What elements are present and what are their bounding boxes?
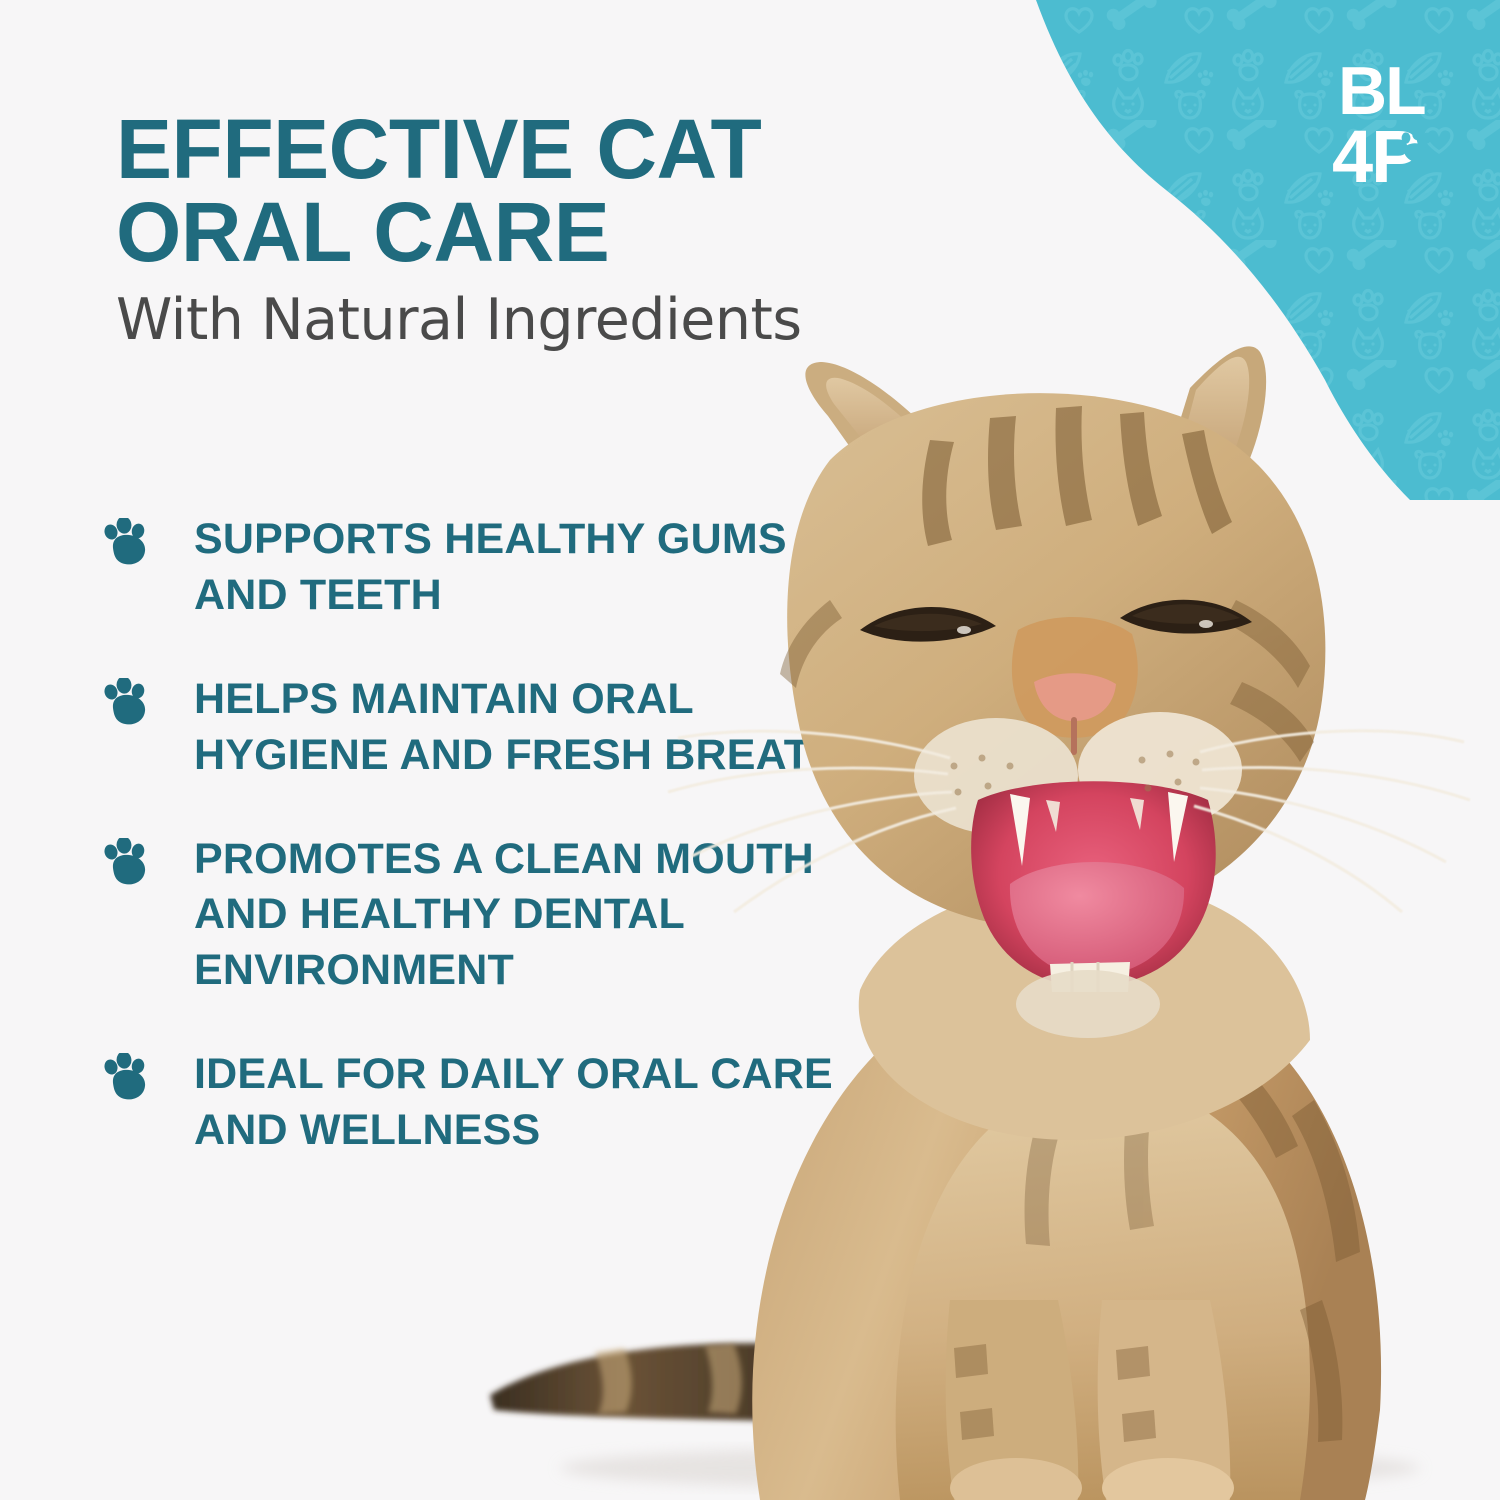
cat-front-legs <box>946 1300 1234 1500</box>
list-item: PROMOTES A CLEAN MOUTH AND HEALTHY DENTA… <box>104 832 844 1000</box>
logo-text-4p: 4P <box>1332 115 1419 198</box>
list-item-label: IDEAL FOR DAILY ORAL CARE AND WELLNESS <box>194 1047 844 1159</box>
cat-shadow <box>560 1446 1420 1490</box>
paw-icon <box>104 1053 152 1105</box>
brand-logo: BL 4P <box>1332 52 1452 202</box>
paw-icon <box>104 678 152 730</box>
list-item: HELPS MAINTAIN ORAL HYGIENE AND FRESH BR… <box>104 672 844 784</box>
list-item-label: SUPPORTS HEALTHY GUMS AND TEETH <box>194 512 844 624</box>
cat-ruff <box>859 880 1310 1140</box>
cat-tail <box>490 1343 1010 1422</box>
benefits-list: SUPPORTS HEALTHY GUMS AND TEETH HELPS MA… <box>104 512 844 1159</box>
list-item-label: PROMOTES A CLEAN MOUTH AND HEALTHY DENTA… <box>194 832 844 1000</box>
list-item: IDEAL FOR DAILY ORAL CARE AND WELLNESS <box>104 1047 844 1159</box>
cat-eyes <box>860 600 1252 642</box>
cat-ear-right <box>1174 346 1266 514</box>
paw-icon <box>104 838 152 890</box>
product-infographic: BL 4P EFFECTIVE CAT ORAL CARE With Natur… <box>0 0 1500 1500</box>
list-item-label: HELPS MAINTAIN ORAL HYGIENE AND FRESH BR… <box>194 672 844 784</box>
page-subheadline: With Natural Ingredients <box>116 292 916 349</box>
cat-mouth <box>971 781 1216 992</box>
paw-icon <box>104 518 152 570</box>
cat-ear-left <box>805 362 970 493</box>
page-headline: EFFECTIVE CAT ORAL CARE <box>116 108 876 274</box>
cat-body <box>752 973 1381 1500</box>
list-item: SUPPORTS HEALTHY GUMS AND TEETH <box>104 512 844 624</box>
cat-nose <box>1012 617 1138 752</box>
